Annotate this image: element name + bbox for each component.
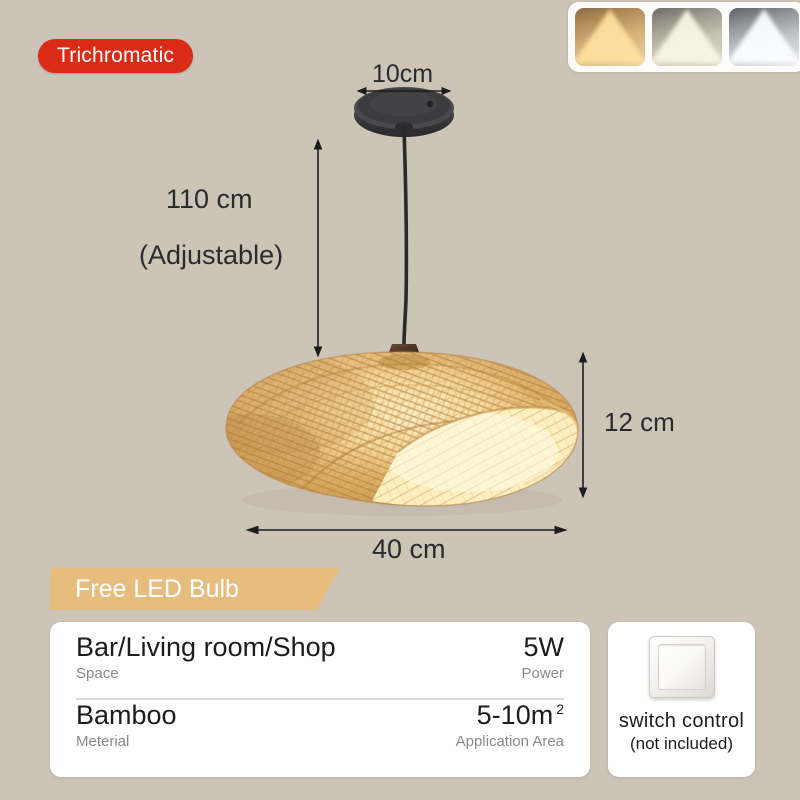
light-cone-icon [729,9,799,63]
spec-value-area-exponent: 2 [556,701,564,717]
spec-value-area-number: 5-10m [477,700,554,730]
spec-cell-power: 5W Power [521,632,564,682]
wall-switch-rocker [658,644,706,690]
spec-value-material: Bamboo [76,700,177,731]
bamboo-shade [180,340,600,530]
spec-label-material: Meterial [76,733,177,750]
hanging-cord [404,128,406,344]
switch-control-card: switch control (not included) [608,622,755,777]
free-led-bulb-label: Free LED Bulb [75,575,239,604]
spec-label-power: Power [521,665,564,682]
spec-value-space: Bar/Living room/Shop [76,632,336,663]
pendant-lamp-illustration [0,0,800,600]
cct-swatch-cool-white[interactable] [729,8,799,66]
light-cone-icon [652,9,722,63]
spec-value-power: 5W [524,632,565,663]
dimension-label-shade-width: 40 cm [372,534,446,565]
trichromatic-badge-label: Trichromatic [57,44,174,68]
cct-swatch-warm-white[interactable] [575,8,645,66]
trichromatic-badge: Trichromatic [38,39,193,73]
spec-label-application-area: Application Area [456,733,564,750]
spec-row: Bamboo Meterial 5-10m2 Application Area [76,700,564,766]
dimension-label-drop-length: 110 cm [166,184,253,215]
switch-control-caption: switch control [619,710,744,733]
wall-switch-icon [649,636,715,698]
free-led-bulb-ribbon: Free LED Bulb [50,568,340,610]
spec-cell-space: Bar/Living room/Shop Space [76,632,336,682]
switch-control-note: (not included) [630,734,733,754]
cct-swatch-natural-white[interactable] [652,8,722,66]
dimension-label-shade-height: 12 cm [604,407,675,438]
spec-cell-application-area: 5-10m2 Application Area [456,700,564,750]
spec-label-space: Space [76,665,336,682]
spec-row: Bar/Living room/Shop Space 5W Power [76,632,564,700]
light-cone-icon [575,9,645,63]
dimension-label-drop-note: (Adjustable) [139,240,283,271]
specification-card: Bar/Living room/Shop Space 5W Power Bamb… [50,622,590,777]
dimension-label-canopy-width: 10cm [372,60,433,89]
product-infographic: Trichromatic 10cm 110 cm (Adjustable) 12… [0,0,800,800]
spec-cell-material: Bamboo Meterial [76,700,177,750]
spec-value-application-area: 5-10m2 [477,700,564,731]
color-temperature-panel [568,2,800,72]
